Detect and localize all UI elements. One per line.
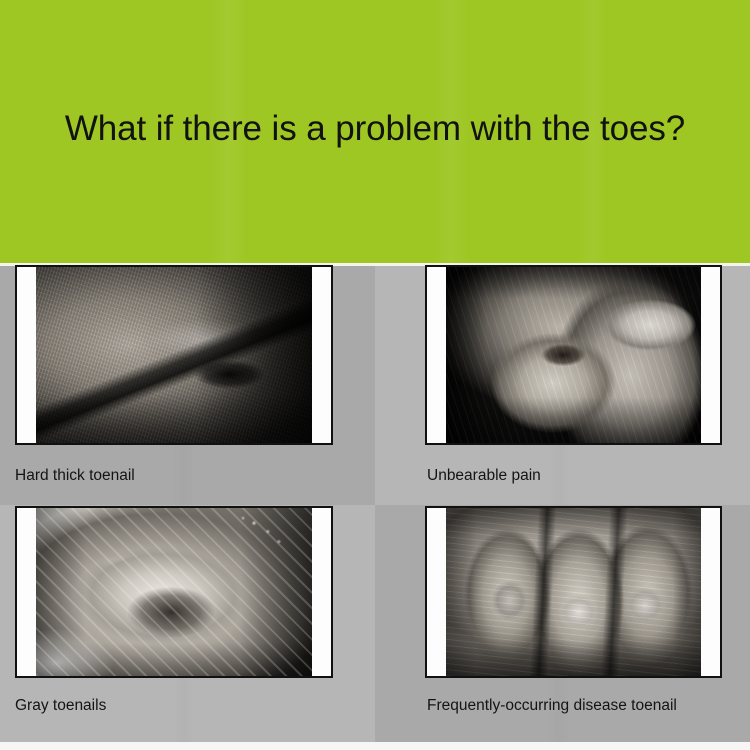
poster-root: What if there is a problem with the toes… — [0, 0, 750, 750]
photo-frame[interactable] — [425, 506, 722, 678]
bottom-edge-strip — [0, 742, 750, 750]
photo-frame[interactable] — [15, 265, 333, 445]
filmstrip-left — [427, 267, 446, 443]
caption-gray-toenails: Gray toenails — [15, 696, 106, 715]
image-grid: Hard thick toenail Unbearable pain Gray … — [0, 266, 750, 750]
filmstrip-right — [701, 508, 720, 676]
photo-frequently-occurring-disease-toenail — [446, 508, 701, 676]
filmstrip-left — [17, 267, 36, 443]
photo-frame[interactable] — [425, 265, 722, 445]
photo-unbearable-pain — [446, 267, 701, 443]
header-banner: What if there is a problem with the toes… — [0, 0, 750, 263]
photo-hard-thick-toenail — [36, 267, 312, 443]
filmstrip-left — [427, 508, 446, 676]
filmstrip-left — [17, 508, 36, 676]
page-title: What if there is a problem with the toes… — [0, 108, 750, 150]
caption-unbearable-pain: Unbearable pain — [427, 466, 541, 485]
filmstrip-right — [312, 508, 331, 676]
caption-hard-thick-toenail: Hard thick toenail — [15, 466, 135, 485]
photo-frame[interactable] — [15, 506, 333, 678]
photo-gray-toenails — [36, 508, 312, 676]
caption-frequently-occurring-disease-toenail: Frequently-occurring disease toenail — [427, 696, 677, 715]
filmstrip-right — [312, 267, 331, 443]
filmstrip-right — [701, 267, 720, 443]
